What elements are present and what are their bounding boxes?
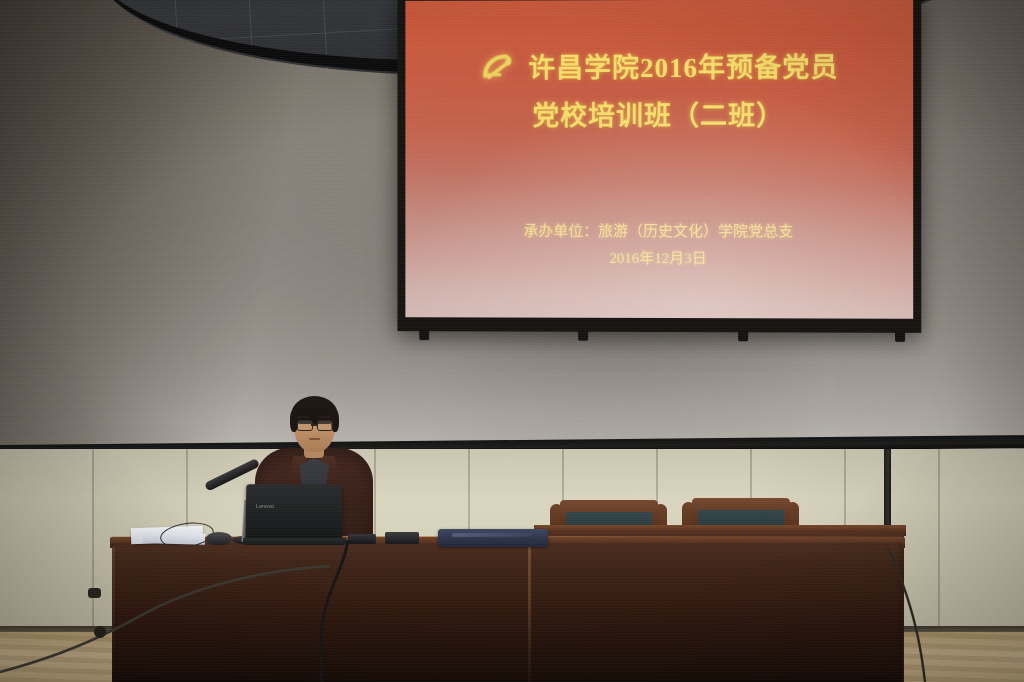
- screen-mount-tab: [419, 329, 429, 340]
- laptop-brand-label: Lenovo: [256, 504, 274, 510]
- computer-mouse: [206, 532, 232, 545]
- navy-bag: [438, 529, 548, 547]
- glasses-bridge: [311, 424, 317, 426]
- lecture-hall-photo: 许昌学院2016年预备党员 党校培训班（二班） 承办单位：旅游（历史文化）学院党…: [0, 0, 1024, 682]
- screen-mount-tab: [578, 330, 588, 341]
- slide-subtitle-block: 承办单位：旅游（历史文化）学院党总支 2016年12月3日: [405, 218, 913, 268]
- slide-title-line-1: 许昌学院2016年预备党员: [528, 48, 838, 90]
- glasses-lens-right: [317, 420, 333, 431]
- laptop-screen-lid: Lenovo: [246, 484, 343, 540]
- screen-mount-tab: [895, 331, 905, 342]
- projection-screen-surface: 许昌学院2016年预备党员 党校培训班（二班） 承办单位：旅游（历史文化）学院党…: [405, 0, 913, 319]
- laptop-base: [243, 538, 346, 545]
- presenter-remote-secondary: [348, 534, 376, 544]
- screen-mount-tab: [738, 330, 748, 341]
- slide-organizer-line: 承办单位：旅游（历史文化）学院党总支: [405, 218, 913, 247]
- desk-shadow: [112, 600, 902, 682]
- projection-screen: 许昌学院2016年预备党员 党校培训班（二班） 承办单位：旅游（历史文化）学院党…: [397, 0, 921, 333]
- wall-socket: [88, 588, 101, 598]
- communist-party-emblem-icon: [479, 51, 519, 84]
- presenter-remote: [385, 532, 419, 544]
- slide-title-block: 许昌学院2016年预备党员 党校培训班（二班）: [405, 47, 913, 137]
- slide-title-line-2: 党校培训班（二班）: [405, 96, 913, 138]
- slide-date-line: 2016年12月3日: [405, 246, 913, 268]
- navy-bag-fold: [452, 533, 532, 537]
